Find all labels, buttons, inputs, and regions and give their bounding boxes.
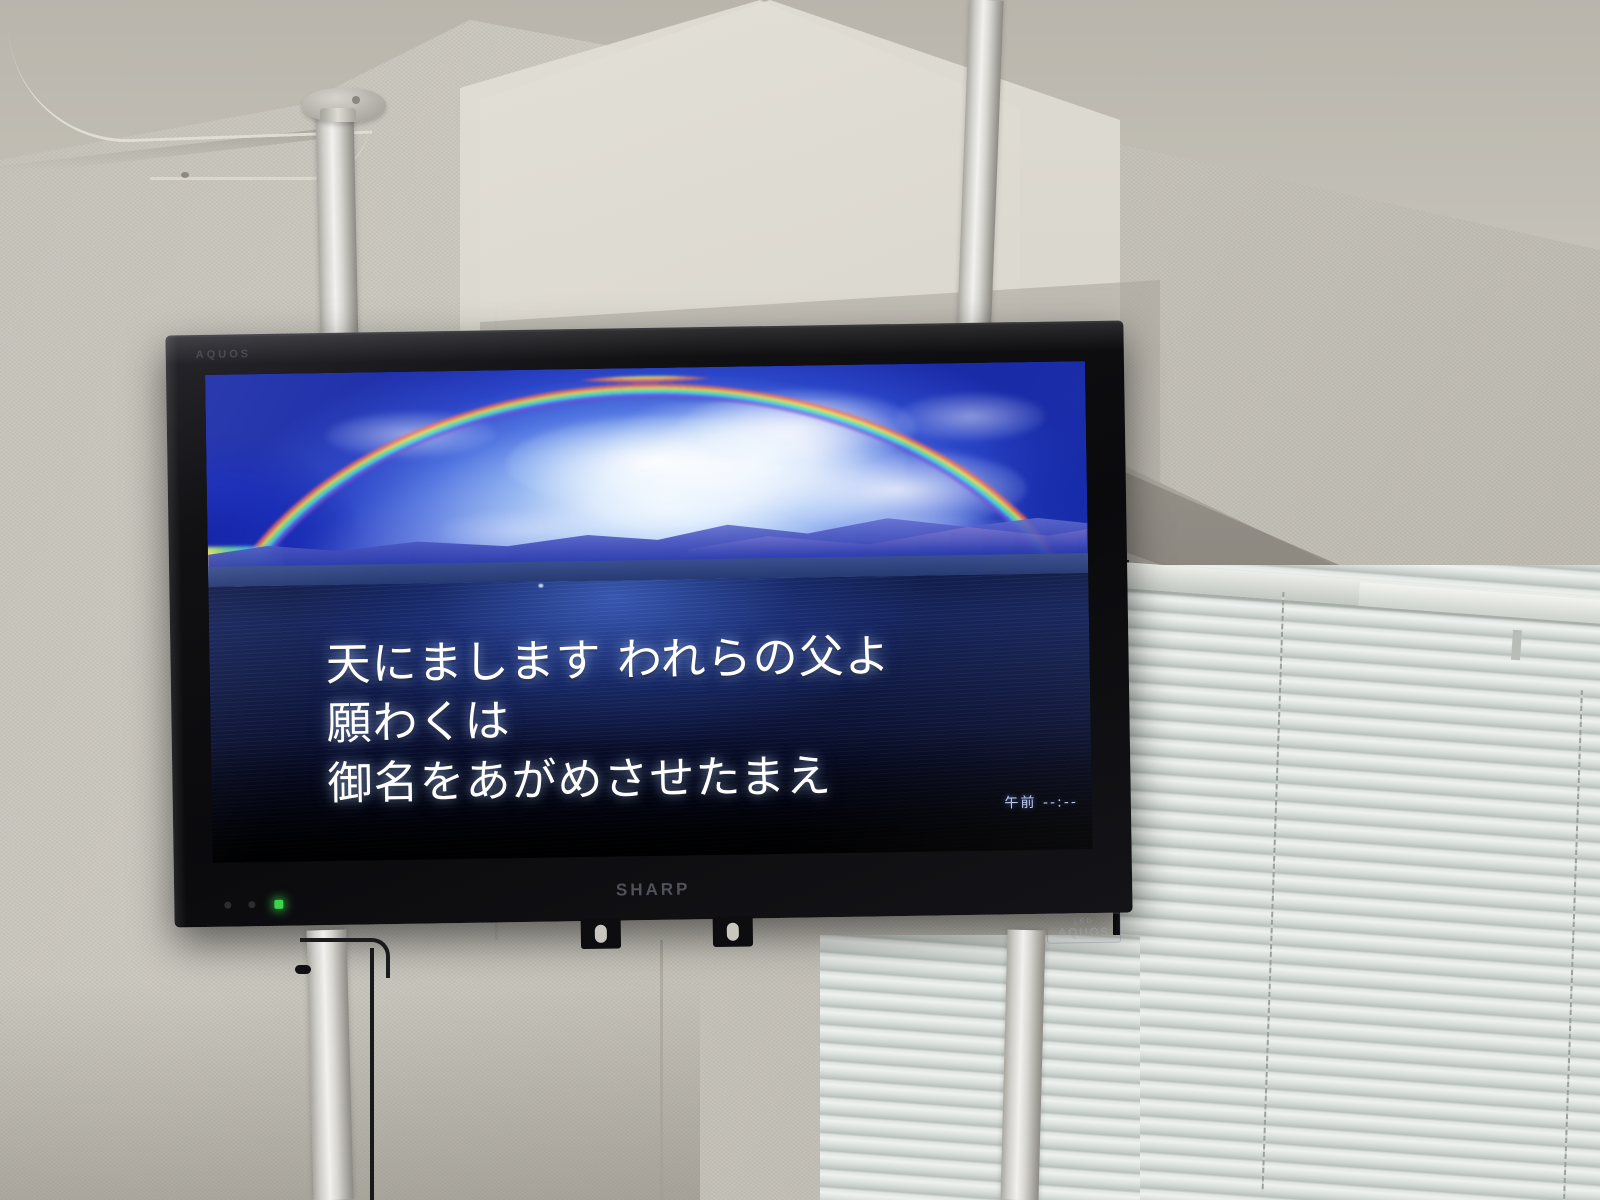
light-sensor-icon (248, 901, 255, 908)
osd-clock: 午前 --:-- (1004, 791, 1078, 812)
ir-receiver-icon (224, 902, 231, 909)
tv-power-cable (300, 938, 390, 978)
tv-screen[interactable]: 天にまします われらの父よ 願わくは 御名をあがめさせたまえ 午前 --:-- (205, 361, 1093, 863)
tv-mount-bracket-left (581, 918, 621, 949)
cable-clip (295, 965, 311, 974)
flange-neck (320, 108, 356, 122)
wall-mark (181, 172, 189, 178)
blind-slats (1120, 565, 1600, 1200)
sea-glint (538, 584, 543, 588)
aquos-badge: LED AQUOS (1047, 913, 1121, 944)
tv-topleft-brand-label: AQUOS (196, 348, 252, 361)
blind-slats-lower (820, 935, 1140, 1200)
lyrics-overlay: 天にまします われらの父よ 願わくは 御名をあがめさせたまえ (325, 623, 1088, 813)
room-scene: AQUOS (0, 0, 1600, 1200)
mount-pole-right-lower (1000, 930, 1045, 1200)
tv-power-cable-drop (370, 948, 374, 1200)
tv-mount-bracket-right (713, 916, 753, 947)
window-blinds[interactable] (1120, 565, 1600, 1200)
aquos-badge-name-text: AQUOS (1058, 925, 1110, 939)
lyric-line-3: 御名をあがめさせたまえ (327, 742, 1088, 813)
flange-screw (352, 96, 360, 104)
ceiling-mount-pole-left (316, 112, 359, 343)
rainbow-photo (205, 361, 1088, 587)
window-blinds-lower[interactable] (820, 935, 1140, 1200)
power-led-indicator (274, 900, 283, 909)
television[interactable]: AQUOS (165, 321, 1132, 928)
